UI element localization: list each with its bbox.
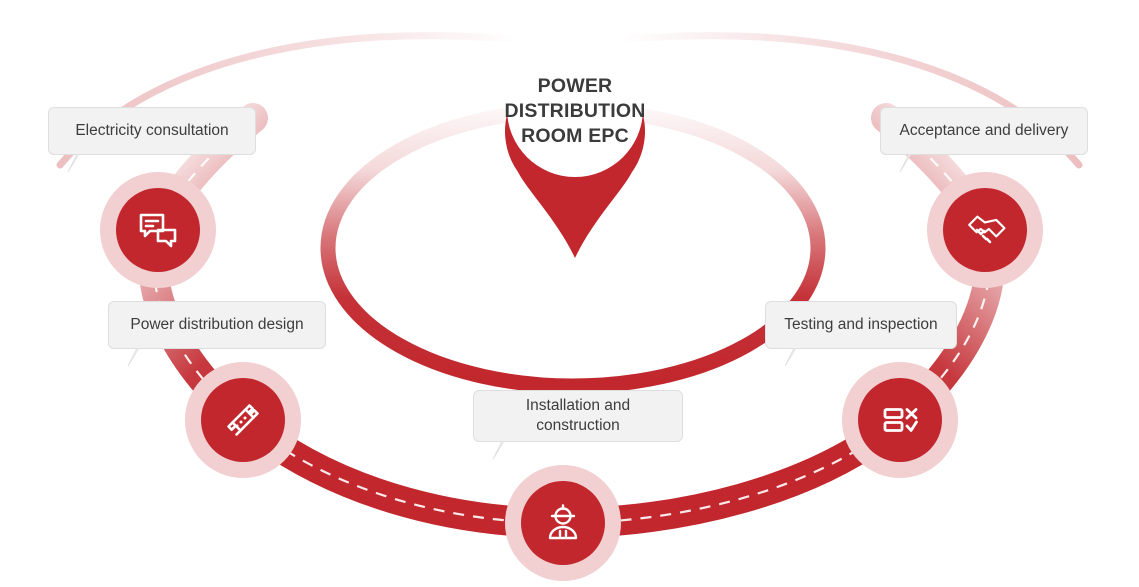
label-acceptance-and-delivery[interactable]: Acceptance and delivery [880,107,1088,155]
label-text: Power distribution design [130,315,303,335]
chat-bubbles-icon [136,208,180,252]
checklist-icon [876,396,924,444]
pin-title-line-1: POWER [497,74,653,99]
worker-helmet-icon [540,500,586,546]
node-core [201,378,285,462]
node-core [521,481,605,565]
label-text: Installation and construction [488,396,668,436]
ruler-pencil-icon [219,396,267,444]
node-installation-and-construction[interactable] [505,465,621,581]
label-power-distribution-design[interactable]: Power distribution design [108,301,326,349]
node-core [943,188,1027,272]
pin-title-line-2: DISTRIBUTION [497,99,653,124]
label-installation-and-construction[interactable]: Installation and construction [473,390,683,442]
process-diagram: Electricity consultation Power distribut… [0,0,1139,587]
node-testing-and-inspection[interactable] [842,362,958,478]
node-core [116,188,200,272]
label-text: Testing and inspection [784,315,937,335]
label-electricity-consultation[interactable]: Electricity consultation [48,107,256,155]
handshake-icon [961,206,1009,254]
node-core [858,378,942,462]
center-map-pin: POWER DISTRIBUTION ROOM EPC [497,30,653,260]
pin-title: POWER DISTRIBUTION ROOM EPC [497,74,653,149]
pin-title-line-3: ROOM EPC [497,124,653,149]
label-testing-and-inspection[interactable]: Testing and inspection [765,301,957,349]
node-electricity-consultation[interactable] [100,172,216,288]
label-text: Acceptance and delivery [900,121,1069,141]
node-acceptance-and-delivery[interactable] [927,172,1043,288]
label-text: Electricity consultation [75,121,228,141]
node-power-distribution-design[interactable] [185,362,301,478]
